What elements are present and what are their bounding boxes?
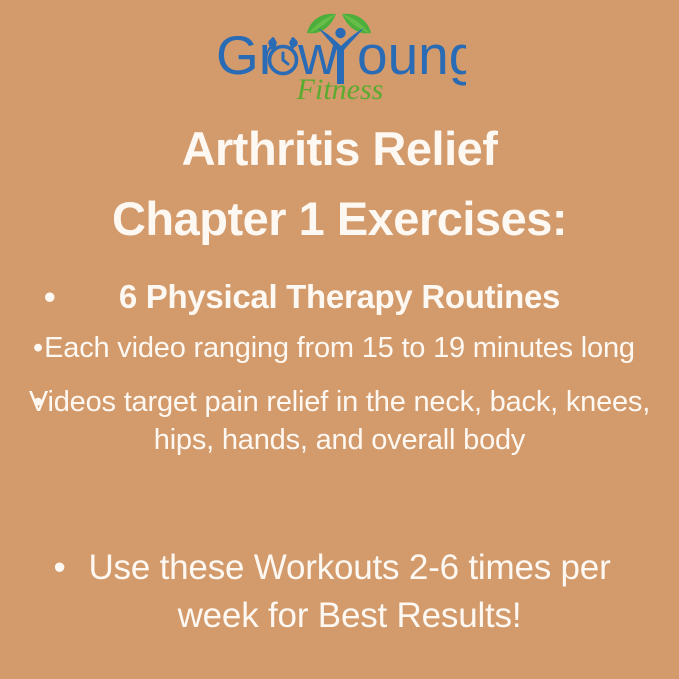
benefits-list: • 6 Physical Therapy Routines • Each vid… [0, 275, 679, 459]
logo-word-grow: Gr [216, 24, 277, 86]
list-item: • 6 Physical Therapy Routines [0, 275, 679, 319]
bullet-marker: • [54, 544, 66, 592]
promo-poster: Gr w oung Fitness Arthritis Relief Chapt… [0, 0, 679, 679]
list-item-label: Each video ranging from 15 to 19 minutes… [24, 329, 656, 367]
call-to-action-label: Use these Workouts 2-6 times per week fo… [88, 548, 610, 635]
list-item: • Each video ranging from 15 to 19 minut… [0, 329, 679, 367]
list-item-label: 6 Physical Therapy Routines [30, 275, 650, 319]
logo-tagline: Fitness [295, 73, 383, 104]
bullet-marker: • [33, 329, 43, 367]
logo-artwork: Gr w oung Fitness [214, 6, 466, 104]
call-to-action: • Use these Workouts 2-6 times per week … [0, 544, 679, 640]
bullet-marker: • [33, 383, 43, 421]
list-item-label: Videos target pain relief in the neck, b… [24, 383, 656, 459]
list-item: • Videos target pain relief in the neck,… [0, 383, 679, 459]
brand-logo: Gr w oung Fitness [0, 6, 679, 106]
headline-line-1: Arthritis Relief [0, 114, 679, 184]
headline-line-2: Chapter 1 Exercises: [0, 184, 679, 254]
bullet-marker: • [44, 275, 55, 319]
page-title: Arthritis Relief Chapter 1 Exercises: [0, 114, 679, 254]
